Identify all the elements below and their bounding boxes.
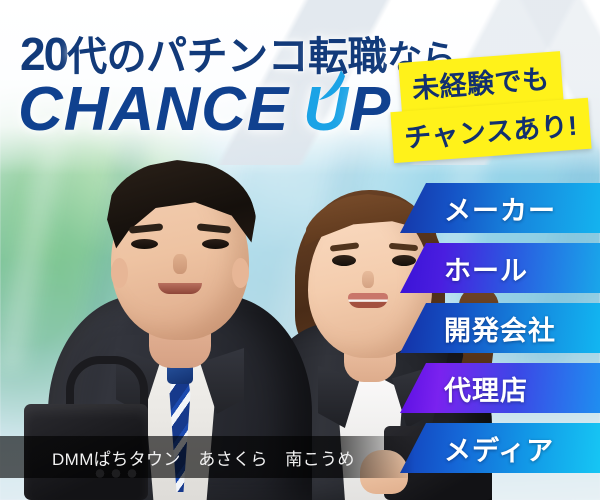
- category-label-developer: 開発会社: [444, 309, 556, 348]
- category-label-hall: ホール: [444, 249, 528, 288]
- recruitment-banner[interactable]: 20代のパチンコ転職なら CHANCEUP 未経験でも チャンスあり! メーカー…: [0, 0, 600, 500]
- category-label-maker: メーカー: [444, 189, 556, 228]
- category-label-media: メディア: [444, 429, 554, 468]
- logo-word-up: UP: [303, 74, 391, 145]
- category-button-developer[interactable]: 開発会社: [400, 303, 600, 353]
- credit-text: DMMぱちタウン あさくら 南こうめ: [52, 445, 355, 470]
- headline-number: 20: [20, 28, 67, 80]
- category-button-media[interactable]: メディア: [400, 423, 600, 473]
- category-list: メーカー ホール 開発会社 代理店 メディア: [400, 183, 600, 483]
- headline: 20代のパチンコ転職なら: [20, 22, 456, 82]
- category-button-hall[interactable]: ホール: [400, 243, 600, 293]
- category-button-agency[interactable]: 代理店: [400, 363, 600, 413]
- logo-word-chance: CHANCE: [18, 75, 289, 144]
- headline-tenshoku: 転職: [308, 35, 387, 79]
- logo-letter-u: U: [303, 75, 349, 144]
- chance-up-logo: CHANCEUP: [18, 74, 391, 145]
- headline-dai-no: 代の: [67, 35, 146, 79]
- credit-bar: DMMぱちタウン あさくら 南こうめ: [0, 436, 415, 478]
- headline-kana: パチンコ: [146, 33, 308, 79]
- logo-letter-p: P: [349, 75, 391, 144]
- category-label-agency: 代理店: [444, 369, 528, 408]
- category-button-maker[interactable]: メーカー: [400, 183, 600, 233]
